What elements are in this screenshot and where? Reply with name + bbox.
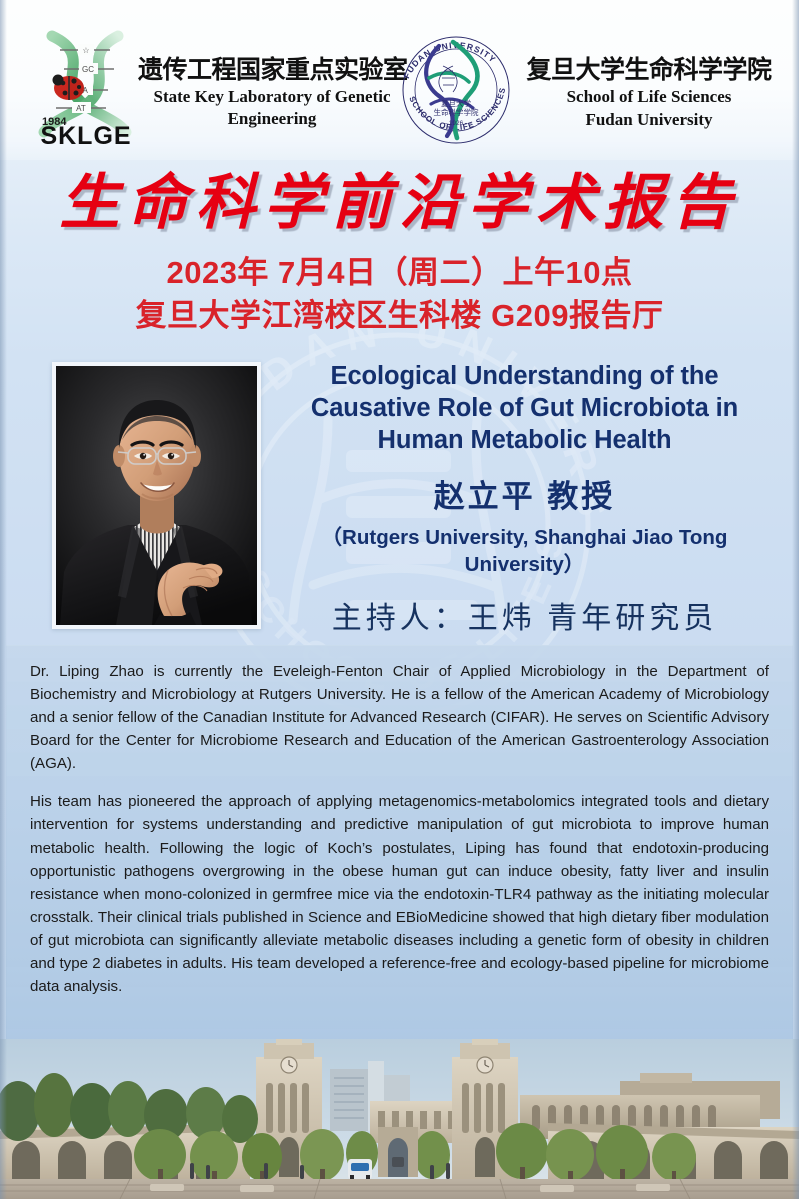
fudan-sls-logo-icon: FUDAN UNIVERSITY SCHOOL OF LIFE SCIENCES [395,26,517,150]
dna-label-star: ☆ [82,46,89,55]
fudan-seal-cn-2: 生命科学学院 [434,107,479,117]
host-line: 主持人：王炜 青年研究员 [272,593,777,637]
poster-header: ☆ GC TA AT [0,0,799,160]
campus-shuttle-vehicle [348,1159,372,1179]
talk-info-block: Ecological Understanding of the Causativ… [272,360,777,637]
speaker-photo-frame [52,362,261,629]
talk-title: Ecological Understanding of the Causativ… [272,360,777,456]
fudan-seal-year: — 1926 — [440,120,472,127]
speaker-affiliation: （Rutgers University, Shanghai Jiao Tong … [272,525,777,578]
bio-paragraph-2: His team has pioneered the approach of a… [30,790,769,998]
event-venue: 复旦大学江湾校区生科楼 G209报告厅 [0,295,799,338]
sklge-name-en: State Key Laboratory of Genetic Engineer… [134,86,410,130]
fudan-seal-cn-1: 复旦大学 [441,98,471,108]
speaker-portrait-photo [56,366,257,625]
bio-paragraph-1: Dr. Liping Zhao is currently the Eveleig… [30,660,769,775]
campus-photo-footer [0,1039,799,1199]
ladybug-icon [53,75,85,101]
dna-label-gc: GC [82,65,94,74]
sklge-acronym-label: SKLGE [40,122,131,148]
sklge-logo-icon: ☆ GC TA AT [22,28,150,148]
dna-label-at: AT [76,104,86,113]
fudan-name-cn: 复旦大学生命科学学院 [520,50,778,86]
seminar-poster: FUDAN UNIVERSITY SCHOOL OF LIFE SCIENCES [0,0,799,1199]
event-datetime: 2023年 7月4日（周二）上午10点 [0,252,799,295]
speaker-name: 赵立平 教授 [272,471,777,516]
event-meta: 2023年 7月4日（周二）上午10点 复旦大学江湾校区生科楼 G209报告厅 [0,252,799,338]
speaker-bio-panel: Dr. Liping Zhao is currently the Eveleig… [6,645,793,1060]
fudan-name-en: School of Life Sciences Fudan University [518,86,780,132]
poster-main-title: 生命科学前沿学术报告 [0,172,799,235]
sklge-name-cn: 遗传工程国家重点实验室 [138,50,406,86]
